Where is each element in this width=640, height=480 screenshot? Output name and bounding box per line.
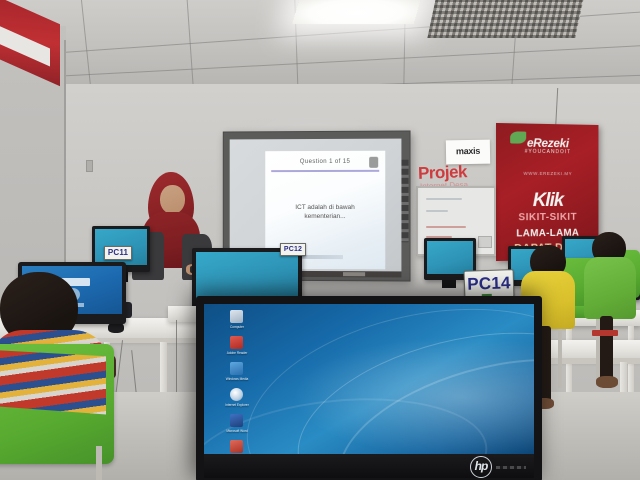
desktop-icon-internet-explorer-label: Internet Explorer — [220, 403, 254, 407]
wall-socket-icon — [86, 160, 93, 172]
instructor-face — [160, 185, 185, 214]
monitor-control-buttons[interactable] — [496, 466, 526, 469]
slide-question-title: Question 1 of 15 — [265, 159, 385, 165]
slide-body-text: ICT adalah di bawah kementerian... — [275, 203, 375, 221]
desktop-icon-computer-label: Computer — [220, 325, 254, 329]
student-green-foot — [596, 376, 618, 388]
classroom-photo-scene: maxis Projek Internet Desa eRezeki #YOUC… — [0, 0, 640, 480]
desktop-icon-recycle-bin[interactable] — [230, 440, 243, 453]
slide-body-line-1: ICT adalah di bawah — [295, 204, 355, 211]
monitor-foreground-hp[interactable]: Computer Adobe Reader Windows Media Inte… — [196, 296, 542, 480]
desktop-icon-media-player[interactable] — [230, 362, 243, 375]
poster-brand-sub: #YOUCANDOIT — [504, 148, 591, 155]
pc-tag-pc12: PC12 — [280, 243, 306, 256]
poster-headline: Klik — [504, 190, 591, 212]
iwb-tray-marker-icon — [343, 272, 365, 276]
slide-logo-icon — [369, 157, 378, 168]
desktop-icon-computer[interactable] — [230, 310, 243, 323]
desktop-icon-adobe-reader[interactable] — [230, 336, 243, 349]
whiteboard-eraser-icon — [478, 236, 492, 248]
monitor-right-1-stand — [442, 280, 456, 288]
desk-item-red — [592, 330, 618, 336]
hp-logo-icon: hp — [470, 456, 492, 478]
monitor-pc12-screen — [196, 252, 298, 300]
slide-divider — [271, 170, 379, 172]
ceiling-grille-fixture-icon — [427, 0, 584, 38]
desktop-icon-media-player-label: Windows Media — [220, 377, 254, 381]
slide-body-line-2: kementerian... — [304, 213, 345, 220]
desktop-icon-adobe-reader-label: Adobe Reader — [220, 351, 254, 355]
ceiling-light-panel-icon — [292, 0, 422, 24]
monitor-foreground-hp-screen: Computer Adobe Reader Windows Media Inte… — [204, 304, 534, 454]
desktop-icon-word[interactable] — [230, 414, 243, 427]
iwb-side-buttons[interactable] — [401, 160, 408, 243]
student-green-leg — [600, 316, 613, 380]
monitor-right-1-screen — [427, 241, 473, 274]
desktop-icon-internet-explorer[interactable] — [230, 388, 243, 401]
desktop-icon-word-label: Microsoft Word — [220, 429, 254, 433]
maxis-sign: maxis — [446, 140, 490, 165]
pc-tag-pc11: PC11 — [104, 246, 132, 260]
poster-url: WWW.EREZEKI.MY — [504, 171, 591, 176]
poster-line-2: SIKIT-SIKIT — [504, 212, 591, 224]
student-green-body — [584, 257, 636, 319]
maxis-logo-text: maxis — [446, 146, 490, 157]
chair-foreground-leg — [96, 446, 102, 480]
